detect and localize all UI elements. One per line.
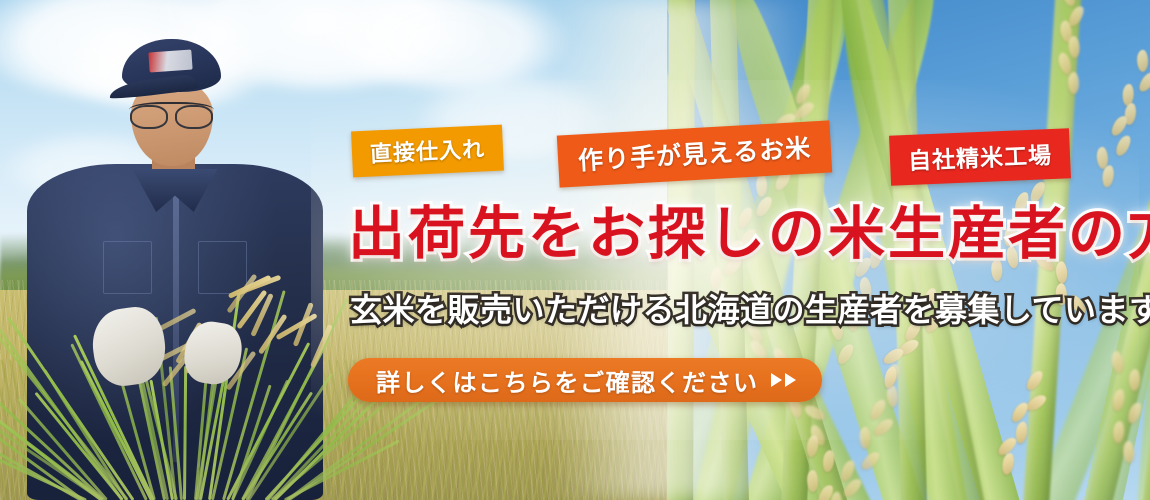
badge-visible-grower: 作り手が見えるお米: [557, 120, 833, 187]
cta-label: 詳しくはこちらをご確認ください: [376, 363, 759, 398]
right-triangle-icon: [785, 373, 796, 387]
details-cta-button[interactable]: 詳しくはこちらをご確認ください: [348, 358, 822, 402]
right-triangle-icon: [771, 373, 782, 387]
badge-direct-purchase: 直接仕入れ: [351, 125, 504, 178]
subheadline: 玄米を販売いただける北海道の生産者を募集しています!: [350, 285, 1110, 331]
badge-own-mill: 自社精米工場: [889, 128, 1071, 185]
banner-content: 直接仕入れ 作り手が見えるお米 自社精米工場 出荷先をお探しの米生産者の方へ 玄…: [0, 0, 1150, 500]
badge-group: 直接仕入れ 作り手が見えるお米 自社精米工場: [352, 128, 1092, 176]
badge-label: 自社精米工場: [907, 136, 1052, 176]
headline: 出荷先をお探しの米生産者の方へ: [348, 203, 1108, 267]
double-right-triangle-icon: [771, 373, 796, 387]
hero-banner: 直接仕入れ 作り手が見えるお米 自社精米工場 出荷先をお探しの米生産者の方へ 玄…: [0, 0, 1150, 500]
badge-label: 作り手が見えるお米: [577, 129, 812, 178]
badge-label: 直接仕入れ: [369, 131, 485, 168]
